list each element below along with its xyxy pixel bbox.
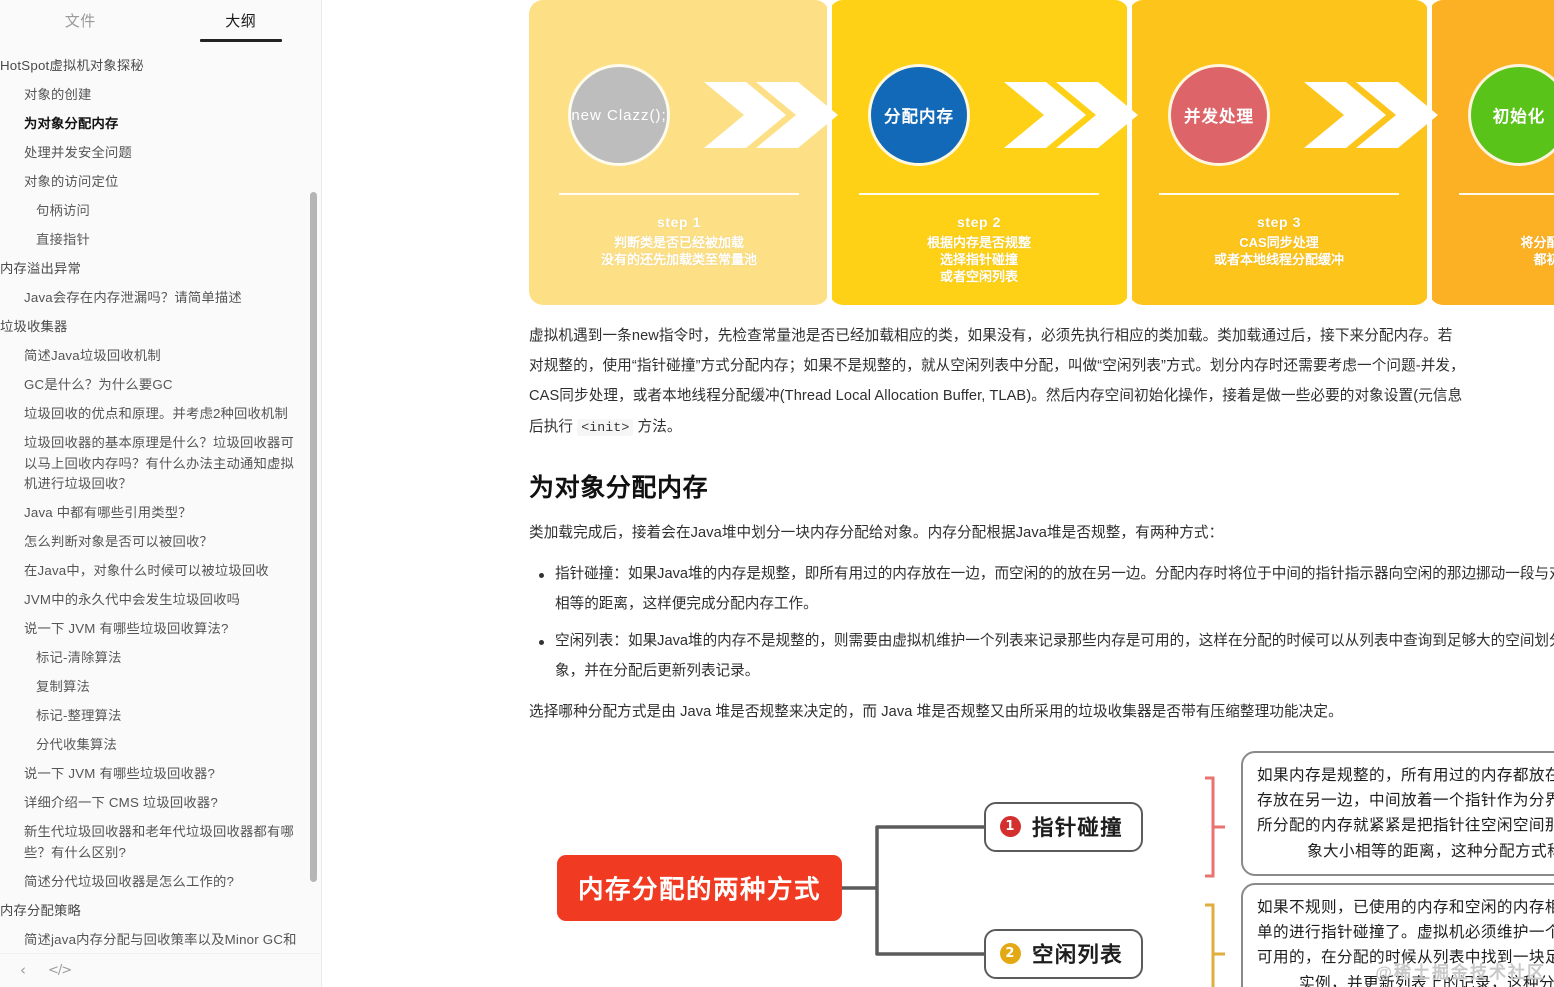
- intro-paragraph: 虚拟机遇到一条new指令时，先检查常量池是否已经加载相应的类，如果没有，必须先执…: [529, 321, 1554, 442]
- outline-item[interactable]: Java 中都有哪些引用类型？: [0, 499, 321, 528]
- mindmap-description-line: 单的进行指针碰撞了。虚拟机必须维护一个列表来记录哪: [1257, 920, 1554, 945]
- mindmap-description-line: 象大小相等的距离，这种分配方式称为「指针碰撞」: [1257, 839, 1554, 864]
- intro-line-2: 对规整的，使用“指针碰撞”方式分配内存；如果不是规整的，就从空闲列表中分配，叫做…: [529, 358, 1465, 374]
- outline-item[interactable]: 在Java中，对象什么时候可以被垃圾回收: [0, 557, 321, 586]
- mindmap-branch-node-2: 2空闲列表: [984, 929, 1143, 979]
- allocation-method-item: 指针碰撞：如果Java堆的内存是规整，即所有用过的内存放在一边，而空闲的的放在另…: [529, 560, 1554, 620]
- outline-item[interactable]: 垃圾回收的优点和原理。并考虑2种回收机制: [0, 400, 321, 429]
- mindmap-description-line: 存放在另一边，中间放着一个指针作为分界点的指示器，: [1257, 788, 1554, 813]
- banner-step-line: 判断类是否已经被加载: [529, 234, 829, 251]
- banner-step-line: CAS同步处理: [1129, 234, 1429, 251]
- mindmap-brace-1: [1201, 772, 1229, 882]
- document-body: new Clazz();分配内存并发处理初始化step 1判断类是否已经被加载没…: [529, 0, 1554, 987]
- banner-step-caption-4: step 4将分配到的内存空间都初始化为零值: [1429, 213, 1554, 268]
- outline-item[interactable]: 新生代垃圾回收器和老年代垃圾回收器都有哪些？有什么区别?: [0, 818, 321, 868]
- mindmap-description-line: 所分配的内存就紧紧是把指针往空闲空间那边挪动一段与: [1257, 813, 1554, 838]
- mindmap-description-1: 如果内存是规整的，所有用过的内存都放在一边，空闲的存放在另一边，中间放着一个指针…: [1241, 751, 1554, 876]
- intro-line-4-post: 方法。: [633, 419, 681, 435]
- banner-arrow-icon: [694, 72, 844, 158]
- outline-item[interactable]: GC是什么？为什么要GC: [0, 371, 321, 400]
- intro-line-3: CAS同步处理，或者本地线程分配缓冲(Thread Local Allocati…: [529, 388, 1462, 404]
- outline-sidebar: 文件 大纲 HotSpot虚拟机对象探秘对象的创建为对象分配内存处理并发安全问题…: [0, 0, 322, 987]
- outline-item[interactable]: 对象的访问定位: [0, 168, 321, 197]
- banner-step-line: 没有的还先加载类至常量池: [529, 251, 829, 268]
- tab-outline[interactable]: 大纲: [161, 10, 322, 42]
- mindmap-branch-badge: 2: [1000, 943, 1021, 964]
- lead-paragraph: 类加载完成后，接着会在Java堆中划分一块内存分配给对象。内存分配根据Java堆…: [529, 518, 1554, 548]
- mindmap-description-line: 如果不规则，已使用的内存和空闲的内存相互交错，那就: [1257, 895, 1554, 920]
- app-root: 文件 大纲 HotSpot虚拟机对象探秘对象的创建为对象分配内存处理并发安全问题…: [0, 0, 1554, 987]
- banner-step-caption-3: step 3CAS同步处理或者本地线程分配缓冲: [1129, 213, 1429, 268]
- outline-item[interactable]: 怎么判断对象是否可以被回收？: [0, 528, 321, 557]
- outline-item[interactable]: 句柄访问: [0, 197, 321, 226]
- outline-item[interactable]: 简述Java垃圾回收机制: [0, 342, 321, 371]
- banner-step-line: 将分配到的内存空间: [1429, 234, 1554, 251]
- banner-arrow-icon: [1294, 72, 1444, 158]
- banner-rule: [559, 193, 799, 195]
- outline-item[interactable]: 垃圾回收器的基本原理是什么？垃圾回收器可以马上回收内存吗？有什么办法主动通知虚拟…: [0, 429, 321, 499]
- document-viewer[interactable]: new Clazz();分配内存并发处理初始化step 1判断类是否已经被加载没…: [322, 0, 1554, 987]
- banner-step-line: 根据内存是否规整: [829, 234, 1129, 251]
- mindmap-description-line: 如果内存是规整的，所有用过的内存都放在一边，空闲的: [1257, 763, 1554, 788]
- banner-node-1: new Clazz();: [571, 67, 667, 163]
- outline-item[interactable]: HotSpot虚拟机对象探秘: [0, 52, 321, 81]
- intro-line-1: 虚拟机遇到一条new指令时，先检查常量池是否已经加载相应的类，如果没有，必须先执…: [529, 328, 1452, 344]
- sidebar-scrollbar-thumb[interactable]: [310, 192, 317, 882]
- banner-rule: [859, 193, 1099, 195]
- mindmap-branch-label: 指针碰撞: [1032, 811, 1123, 842]
- banner-step-caption-1: step 1判断类是否已经被加载没有的还先加载类至常量池: [529, 213, 829, 268]
- banner-node-2: 分配内存: [871, 67, 967, 163]
- outline-item[interactable]: 标记-整理算法: [0, 702, 321, 731]
- mindmap-branch-node-1: 1指针碰撞: [984, 802, 1143, 852]
- chevron-left-icon[interactable]: ‹: [20, 963, 26, 978]
- sidebar-scrollbar-track[interactable]: [310, 52, 317, 953]
- init-code-token: <init>: [577, 419, 633, 436]
- banner-step-line: 都初始化为零值: [1429, 251, 1554, 268]
- mindmap-brace-2: [1201, 899, 1229, 987]
- closing-paragraph: 选择哪种分配方式是由 Java 堆是否规整来决定的，而 Java 堆是否规整又由…: [529, 697, 1554, 727]
- outline-item[interactable]: 分代收集算法: [0, 731, 321, 760]
- banner-rule: [1459, 193, 1554, 195]
- outline-item[interactable]: 简述分代垃圾回收器是怎么工作的?: [0, 867, 321, 896]
- outline-item[interactable]: 简述java内存分配与回收策率以及Minor GC和Major GC: [0, 925, 321, 953]
- outline-item[interactable]: 处理并发安全问题: [0, 139, 321, 168]
- banner-step-number: step 3: [1129, 213, 1429, 232]
- outline-item[interactable]: 详细介绍一下 CMS 垃圾回收器?: [0, 789, 321, 818]
- outline-item[interactable]: JVM中的永久代中会发生垃圾回收吗: [0, 586, 321, 615]
- outline-item[interactable]: 为对象分配内存: [0, 110, 321, 139]
- mindmap-branch-label: 空闲列表: [1032, 938, 1123, 969]
- outline-item[interactable]: Java会存在内存泄漏吗？请简单描述: [0, 284, 321, 313]
- sidebar-footer: ‹ </>: [0, 953, 321, 987]
- intro-line-4-pre: 后执行: [529, 419, 577, 435]
- allocation-method-item: 空闲列表：如果Java堆的内存不是规整的，则需要由虚拟机维护一个列表来记录那些内…: [529, 627, 1554, 687]
- outline-item[interactable]: 直接指针: [0, 226, 321, 255]
- outline-item[interactable]: 对象的创建: [0, 81, 321, 110]
- outline-list[interactable]: HotSpot虚拟机对象探秘对象的创建为对象分配内存处理并发安全问题对象的访问定…: [0, 52, 321, 953]
- outline-item[interactable]: 内存溢出异常: [0, 255, 321, 284]
- outline-item[interactable]: 复制算法: [0, 673, 321, 702]
- banner-step-line: 选择指针碰撞: [829, 251, 1129, 268]
- banner-rule: [1159, 193, 1399, 195]
- allocation-methods-list: 指针碰撞：如果Java堆的内存是规整，即所有用过的内存放在一边，而空闲的的放在另…: [529, 560, 1554, 687]
- mindmap-branch-badge: 1: [1000, 816, 1021, 837]
- banner-step-number: step 2: [829, 213, 1129, 232]
- banner-arrow-icon: [994, 72, 1144, 158]
- banner-step-caption-2: step 2根据内存是否规整选择指针碰撞或者空闲列表: [829, 213, 1129, 285]
- code-icon[interactable]: </>: [48, 964, 71, 977]
- section-heading: 为对象分配内存: [529, 468, 1554, 504]
- outline-item[interactable]: 标记-清除算法: [0, 644, 321, 673]
- outline-item[interactable]: 内存分配策略: [0, 896, 321, 925]
- object-creation-flow-banner: new Clazz();分配内存并发处理初始化step 1判断类是否已经被加载没…: [529, 0, 1554, 305]
- outline-item[interactable]: 说一下 JVM 有哪些垃圾回收器?: [0, 760, 321, 789]
- banner-node-3: 并发处理: [1171, 67, 1267, 163]
- memory-allocation-mindmap: 内存分配的两种方式1指针碰撞如果内存是规整的，所有用过的内存都放在一边，空闲的存…: [529, 749, 1554, 987]
- banner-step-line: 或者空闲列表: [829, 268, 1129, 285]
- outline-item[interactable]: 说一下 JVM 有哪些垃圾回收算法?: [0, 615, 321, 644]
- watermark: @稀土掘金技术社区: [1375, 958, 1546, 983]
- tab-files[interactable]: 文件: [0, 10, 161, 42]
- outline-item[interactable]: 垃圾收集器: [0, 313, 321, 342]
- sidebar-tabbar: 文件 大纲: [0, 0, 321, 46]
- banner-step-line: 或者本地线程分配缓冲: [1129, 251, 1429, 268]
- banner-step-number: step 4: [1429, 213, 1554, 232]
- banner-step-number: step 1: [529, 213, 829, 232]
